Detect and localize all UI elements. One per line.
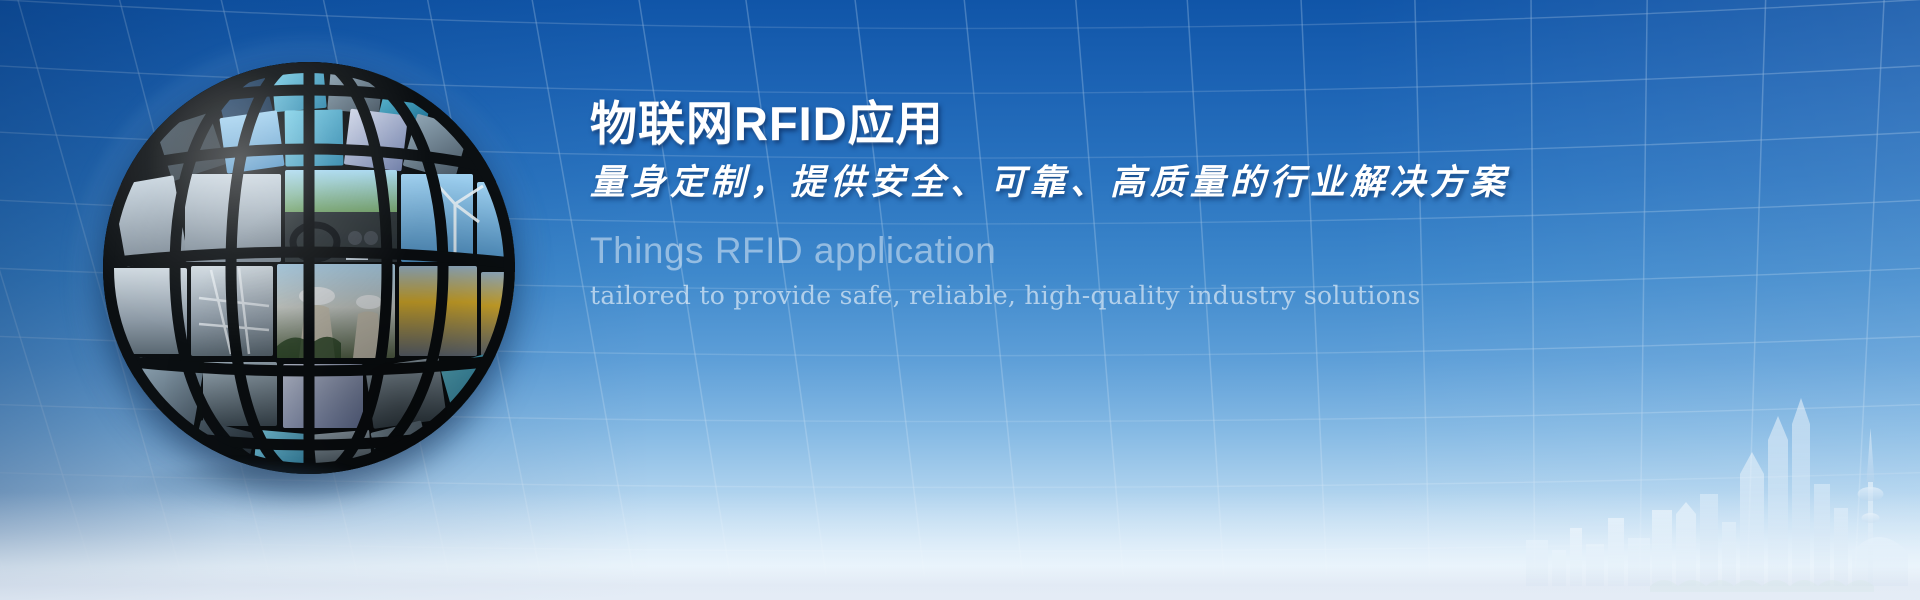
hero-copy: 物联网RFID应用 量身定制，提供安全、可靠、高质量的行业解决方案 Things… (590, 96, 1750, 311)
page-subtitle-cn: 量身定制，提供安全、可靠、高质量的行业解决方案 (590, 161, 1750, 205)
city-skyline-icon (1400, 362, 1920, 592)
page-title-en: Things RFID application (590, 229, 1750, 273)
globe-graphic (103, 62, 515, 474)
hero-banner: 物联网RFID应用 量身定制，提供安全、可靠、高质量的行业解决方案 Things… (0, 0, 1920, 600)
horizon-band (0, 566, 1920, 600)
page-title: 物联网RFID应用 (590, 96, 1750, 151)
globe-ground-reflection (126, 466, 376, 512)
page-subtitle-en: tailored to provide safe, reliable, high… (590, 280, 1750, 311)
photo-mosaic-globe-icon (103, 62, 515, 474)
